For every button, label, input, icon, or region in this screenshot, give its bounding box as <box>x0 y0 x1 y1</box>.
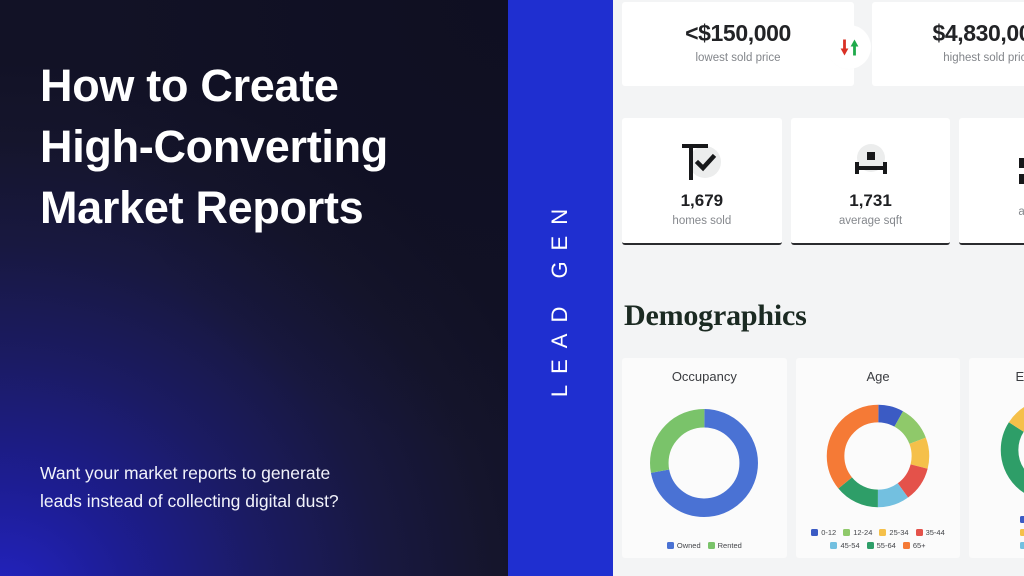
legend-label: Owned <box>677 541 701 550</box>
arrows-up-down-icon <box>830 28 868 66</box>
page-subtitle: Want your market reports to generate lea… <box>40 459 470 516</box>
legend-item: Healthcare <box>1020 515 1024 524</box>
legend-item: 65+ <box>903 541 926 550</box>
for-sale-sign-check-icon <box>678 136 726 186</box>
demographics-chart-row: Occupancy Owned Rented <box>622 358 1024 558</box>
price-caption: highest sold price <box>943 52 1024 64</box>
age-donut-chart <box>822 390 934 522</box>
report-preview: <$150,000 lowest sold price $4,830,000 h… <box>613 0 1024 576</box>
legend-item: 12-24 <box>843 528 872 537</box>
chart-title: Age <box>866 369 889 384</box>
legend-item: Accommodation <box>1020 528 1024 537</box>
chart-title: Employment <box>1016 369 1024 384</box>
chart-card-employment[interactable]: Employment Healthcare Accommo <box>969 358 1024 558</box>
chart-card-occupancy[interactable]: Occupancy Owned Rented <box>622 358 787 558</box>
legend-swatch <box>811 529 818 536</box>
page-title: How to Create High-Converting Market Rep… <box>40 55 480 239</box>
legend-item: 25-34 <box>879 528 908 537</box>
price-value: $4,830,000 <box>932 20 1024 46</box>
title-panel: How to Create High-Converting Market Rep… <box>0 0 508 576</box>
legend-swatch <box>830 542 837 549</box>
legend-swatch <box>903 542 910 549</box>
legend-swatch <box>843 529 850 536</box>
legend-label: 12-24 <box>853 528 872 537</box>
legend-label: 45-54 <box>840 541 859 550</box>
legend-swatch <box>1020 529 1024 536</box>
stat-caption: average <box>1018 206 1024 218</box>
price-card-highest[interactable]: $4,830,000 highest sold price <box>872 2 1024 86</box>
legend-item: Construction <box>1020 541 1024 550</box>
stat-card-average-sqft[interactable]: 1,731 average sqft <box>791 118 951 245</box>
legend-item: 55-64 <box>867 541 896 550</box>
price-value: <$150,000 <box>685 20 791 46</box>
legend-label: 55-64 <box>877 541 896 550</box>
legend-swatch <box>879 529 886 536</box>
bed-icon <box>1015 146 1024 196</box>
price-card-lowest[interactable]: <$150,000 lowest sold price <box>622 2 854 86</box>
legend-swatch <box>1020 542 1024 549</box>
legend-item: Owned <box>667 541 701 550</box>
legend-item: Rented <box>708 541 742 550</box>
stat-caption: average sqft <box>839 215 902 227</box>
legend-label: 35-44 <box>926 528 945 537</box>
legend-label: 65+ <box>913 541 926 550</box>
chart-legend: Owned Rented <box>667 541 742 550</box>
stat-card-average-beds[interactable]: average <box>959 118 1024 245</box>
legend-item: 45-54 <box>830 541 859 550</box>
legend-swatch <box>667 542 674 549</box>
legend-label: Rented <box>718 541 742 550</box>
stat-value: 1,679 <box>681 192 724 211</box>
legend-swatch <box>708 542 715 549</box>
employment-donut-chart <box>996 390 1024 509</box>
stat-caption: homes sold <box>672 215 731 227</box>
legend-swatch <box>867 542 874 549</box>
category-strip: LEAD GEN <box>508 0 613 576</box>
category-label: LEAD GEN <box>548 198 574 408</box>
occupancy-donut-chart <box>645 390 763 535</box>
legend-item: 0-12 <box>811 528 836 537</box>
demographics-heading: Demographics <box>624 299 807 333</box>
chart-legend: 0-12 12-24 25-34 35-44 <box>803 528 953 550</box>
chart-title: Occupancy <box>672 369 737 384</box>
legend-item: 35-44 <box>916 528 945 537</box>
width-measure-icon <box>847 136 895 186</box>
stat-card-homes-sold[interactable]: 1,679 homes sold <box>622 118 782 245</box>
legend-swatch <box>916 529 923 536</box>
stat-card-row: 1,679 homes sold 1,731 average sqft <box>622 118 1024 245</box>
chart-legend: Healthcare Accommodation Construction <box>1020 515 1024 550</box>
legend-label: 0-12 <box>821 528 836 537</box>
legend-label: 25-34 <box>889 528 908 537</box>
stat-value: 1,731 <box>849 192 892 211</box>
legend-swatch <box>1020 516 1024 523</box>
price-summary-row: <$150,000 lowest sold price $4,830,000 h… <box>622 2 1024 86</box>
slide-canvas: How to Create High-Converting Market Rep… <box>0 0 1024 576</box>
price-caption: lowest sold price <box>695 52 780 64</box>
chart-card-age[interactable]: Age 0-12 <box>796 358 961 558</box>
